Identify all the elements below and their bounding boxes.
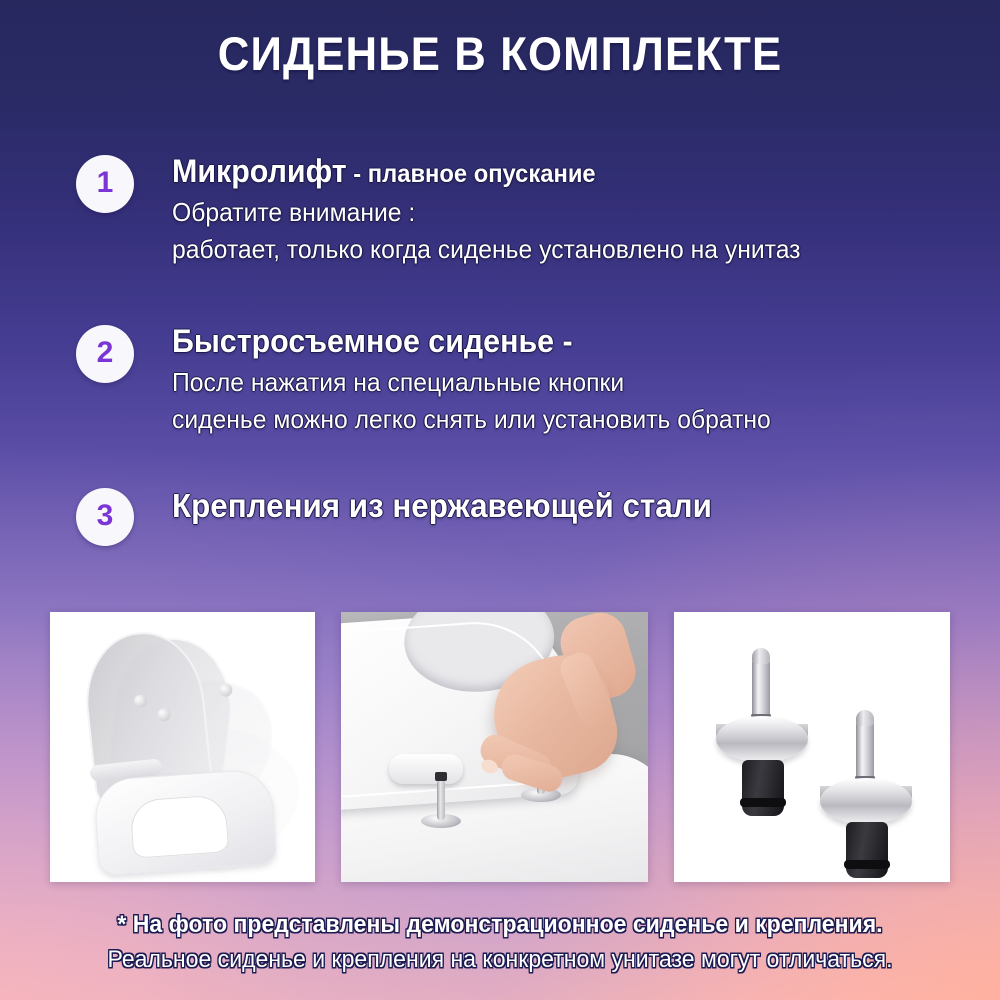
seat-bumper-icon: [133, 694, 147, 708]
photo-strip: [50, 612, 950, 882]
feature-heading-rest-1: - плавное опускание: [347, 160, 596, 188]
feature-text-3: Крепления из нержавеющей стали: [172, 484, 992, 528]
footer-disclaimer: * На фото представлены демонстрационное …: [0, 908, 1000, 978]
seat-ring-opening: [129, 794, 229, 859]
mount-post-collar: [435, 772, 447, 781]
photo-hand-releasing-quick-seat: [341, 612, 648, 882]
fixing-rubber-plug: [742, 760, 784, 816]
fixing-stem-tip: [752, 648, 770, 664]
seat-bumper-icon: [157, 708, 171, 722]
feature-line-1-2: работает, только когда сиденье установле…: [172, 231, 951, 268]
feature-number-3: 3: [97, 501, 114, 531]
feature-text-2: Быстросъемное сиденье - После нажатия на…: [172, 321, 992, 438]
feature-number-badge-3: 3: [76, 488, 134, 546]
fixing-plug-band: [740, 798, 786, 807]
fixing-rubber-plug: [846, 822, 888, 878]
seat-illustration: [50, 612, 315, 882]
feature-heading-1: Микролифт - плавное опускание: [172, 151, 951, 194]
feature-heading-2: Быстросъемное сиденье -: [172, 321, 951, 364]
fixing-chrome-cap: [716, 716, 808, 762]
seat-ring: [93, 768, 277, 876]
photo-soft-close-seat-lowering: [50, 612, 315, 882]
seat-hinge-block: [389, 754, 463, 784]
mount-post-shaft: [437, 780, 445, 820]
feature-line-2-2: сиденье можно легко снять или установить…: [172, 401, 951, 438]
feature-number-2: 2: [97, 338, 114, 368]
fixing-stem-tip: [856, 710, 874, 726]
promo-infographic: СИДЕНЬЕ В КОМПЛЕКТЕ 1 Микролифт - плавно…: [0, 0, 1000, 1000]
feature-line-2-1: После нажатия на специальные кнопки: [172, 364, 951, 401]
feature-heading-bold-2: Быстросъемное сиденье -: [172, 323, 573, 359]
fixing-chrome-cap: [820, 778, 912, 824]
feature-number-badge-2: 2: [76, 325, 134, 383]
feature-number-badge-1: 1: [76, 155, 134, 213]
feature-text-1: Микролифт - плавное опускание Обратите в…: [172, 151, 992, 268]
photo-stainless-steel-fixings: [674, 612, 950, 882]
footer-line-1: * На фото представлены демонстрационное …: [20, 908, 980, 942]
hand-icon: [473, 648, 625, 818]
page-title: СИДЕНЬЕ В КОМПЛЕКТЕ: [35, 26, 965, 81]
feature-number-1: 1: [97, 168, 114, 198]
fixing-plug-band: [844, 860, 890, 869]
feature-heading-bold-1: Микролифт: [172, 153, 347, 189]
footer-line-2: Реальное сиденье и крепления на конкретн…: [20, 942, 980, 978]
feature-heading-3: Крепления из нержавеющей стали: [172, 484, 951, 528]
feature-heading-bold-3: Крепления из нержавеющей стали: [172, 487, 712, 524]
feature-line-1-1: Обратите внимание :: [172, 194, 951, 231]
